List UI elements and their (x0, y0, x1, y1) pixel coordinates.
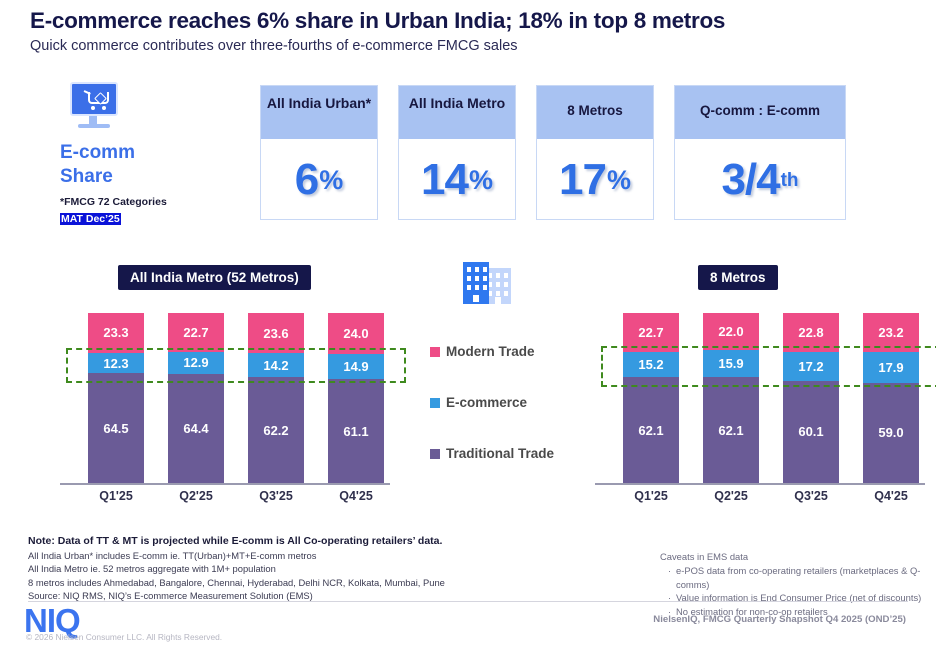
bar-value-label: 22.7 (183, 325, 208, 340)
x-axis-label: Q1'25 (88, 489, 144, 503)
x-axis-label: Q2'25 (168, 489, 224, 503)
monitor-shopping-cart-icon (66, 82, 122, 132)
legend: Modern TradeE-commerceTraditional Trade (430, 262, 595, 497)
note-headline: Note: Data of TT & MT is projected while… (28, 535, 548, 547)
window (496, 273, 500, 278)
x-axis-label: Q1'25 (623, 489, 679, 503)
slide-header: E-commerce reaches 6% share in Urban Ind… (30, 8, 910, 55)
caveat-item: · Value information is End Consumer Pric… (660, 591, 930, 605)
legend-swatch-icon (430, 398, 440, 408)
bar-value-label: 62.2 (263, 423, 288, 438)
chart-title: 8 Metros (698, 265, 778, 290)
window (475, 267, 479, 272)
window (504, 273, 508, 278)
bar-group: 23.312.364.5 (88, 313, 144, 483)
bar-value-label: 22.7 (638, 325, 663, 340)
bar-group: 22.015.962.1 (703, 313, 759, 483)
ecomm-label-line1: E-comm (60, 141, 195, 165)
window (467, 267, 471, 272)
footer-snapshot-label: NielsenIQ, FMCG Quarterly Snapshot Q4 20… (653, 614, 906, 625)
legend-label: Traditional Trade (446, 446, 554, 461)
bar-value-label: 62.1 (718, 423, 743, 438)
page-title: E-commerce reaches 6% share in Urban Ind… (30, 8, 910, 35)
caveat-text: Value information is End Consumer Price … (676, 591, 921, 605)
page-subtitle: Quick commerce contributes over three-fo… (30, 38, 910, 55)
window (467, 276, 471, 281)
bullet-icon: · (660, 564, 676, 591)
window (504, 282, 508, 287)
legend-item-traditional-trade[interactable]: Traditional Trade (430, 446, 595, 461)
window (475, 285, 479, 290)
bar-group: 23.614.262.2 (248, 313, 304, 483)
bar-group: 22.817.260.1 (783, 313, 839, 483)
kpi-card-header: All India Urban* (261, 86, 377, 139)
x-axis-label: Q4'25 (863, 489, 919, 503)
window (483, 276, 487, 281)
kpi-card-all-india-urban[interactable]: All India Urban* 6% (260, 85, 378, 220)
kpi-strip: E-comm Share *FMCG 72 Categories MAT Dec… (60, 80, 875, 230)
kpi-number: 3/4 (721, 158, 779, 202)
bar-segment-traditional-trade: 60.1 (783, 381, 839, 483)
kpi-card-header: Q-comm : E-comm (675, 86, 845, 139)
bar-value-label: 24.0 (343, 326, 368, 341)
ecomm-share-block: E-comm Share *FMCG 72 Categories MAT Dec… (60, 80, 195, 227)
bar-group: 23.217.959.0 (863, 313, 919, 483)
plot-area: 22.715.262.122.015.962.122.817.260.123.2… (595, 313, 925, 483)
legend-items: Modern TradeE-commerceTraditional Trade (430, 344, 595, 461)
x-axis-line (595, 483, 925, 485)
kpi-card-qcomm-ecomm[interactable]: Q-comm : E-comm 3/4th (674, 85, 846, 220)
caveat-text: e-POS data from co-operating retailers (… (676, 564, 930, 591)
fmcg-footnote: *FMCG 72 Categories (60, 196, 195, 209)
legend-swatch-icon (430, 347, 440, 357)
legend-item-e-commerce[interactable]: E-commerce (430, 395, 595, 410)
bar-segment-traditional-trade: 64.4 (168, 374, 224, 483)
chart-8-metros: 8 Metros 22.715.262.122.015.962.122.817.… (595, 265, 925, 515)
kpi-percent-sign: % (607, 167, 631, 194)
ecommerce-highlight-box (601, 346, 936, 386)
bar-value-label: 64.4 (183, 421, 208, 436)
window (504, 291, 508, 296)
bar-value-label: 23.6 (263, 326, 288, 341)
ecommerce-highlight-box (66, 348, 406, 384)
x-axis-label: Q4'25 (328, 489, 384, 503)
bar-segment-traditional-trade: 62.2 (248, 377, 304, 483)
kpi-card-value: 14% (399, 139, 515, 221)
shopping-cart-icon (84, 92, 114, 112)
bar-segment-traditional-trade: 62.1 (623, 377, 679, 483)
kpi-card-header: All India Metro (399, 86, 515, 139)
kpi-card-8-metros[interactable]: 8 Metros 17% (536, 85, 654, 220)
bar-value-label: 59.0 (878, 425, 903, 440)
ecomm-share-label: E-comm Share (60, 141, 195, 190)
copyright-text: © 2026 Nielsen Consumer LLC. All Rights … (26, 632, 222, 642)
kpi-percent-sign: % (469, 167, 493, 194)
window (475, 276, 479, 281)
caveats-header: Caveats in EMS data (660, 551, 930, 562)
caveats-block: Caveats in EMS data · e-POS data from co… (660, 551, 930, 619)
notes-block: Note: Data of TT & MT is projected while… (28, 535, 548, 602)
mat-period-highlight: MAT Dec’25 (60, 213, 121, 225)
bar-value-label: 23.2 (878, 325, 903, 340)
door (473, 295, 479, 302)
legend-label: E-commerce (446, 395, 527, 410)
window (496, 282, 500, 287)
x-axis-label: Q3'25 (248, 489, 304, 503)
kpi-card-header: 8 Metros (537, 86, 653, 139)
bar-segment-modern-trade: 22.0 (703, 313, 759, 350)
window (483, 285, 487, 290)
window (496, 291, 500, 296)
note-line: All India Urban* includes E-comm ie. TT(… (28, 549, 548, 562)
bar-segment-traditional-trade: 61.1 (328, 379, 384, 483)
door (495, 297, 501, 304)
note-line: 8 metros includes Ahmedabad, Bangalore, … (28, 576, 548, 589)
kpi-suffix: th (781, 171, 799, 190)
bar-segment-traditional-trade: 59.0 (863, 383, 919, 483)
bar-segment-modern-trade: 22.7 (168, 313, 224, 352)
x-axis-line (60, 483, 390, 485)
kpi-number: 6 (295, 158, 318, 202)
legend-swatch-icon (430, 449, 440, 459)
chart-title: All India Metro (52 Metros) (118, 265, 311, 290)
note-line: All India Metro ie. 52 metros aggregate … (28, 562, 548, 575)
bar-value-label: 62.1 (638, 423, 663, 438)
chart-all-india-metro: All India Metro (52 Metros) 23.312.364.5… (60, 265, 390, 515)
kpi-card-value: 6% (261, 139, 377, 221)
window (483, 267, 487, 272)
bar-segment-traditional-trade: 62.1 (703, 377, 759, 483)
bar-value-label: 60.1 (798, 424, 823, 439)
legend-item-modern-trade[interactable]: Modern Trade (430, 344, 595, 359)
kpi-number: 14 (421, 158, 468, 202)
caveat-item: · e-POS data from co-operating retailers… (660, 564, 930, 591)
bar-segment-traditional-trade: 64.5 (88, 373, 144, 483)
bar-value-label: 64.5 (103, 421, 128, 436)
kpi-percent-sign: % (319, 167, 343, 194)
legend-label: Modern Trade (446, 344, 535, 359)
x-axis-label: Q2'25 (703, 489, 759, 503)
bar-value-label: 22.8 (798, 325, 823, 340)
bar-value-label: 22.0 (718, 324, 743, 339)
kpi-card-value: 3/4th (675, 139, 845, 221)
bullet-icon: · (660, 591, 676, 605)
footer-divider (28, 601, 908, 602)
window (467, 285, 471, 290)
buildings-icon (463, 262, 511, 304)
x-axis-label: Q3'25 (783, 489, 839, 503)
kpi-number: 17 (559, 158, 606, 202)
kpi-card-value: 17% (537, 139, 653, 221)
kpi-card-all-india-metro[interactable]: All India Metro 14% (398, 85, 516, 220)
bar-group: 22.715.262.1 (623, 313, 679, 483)
bar-value-label: 61.1 (343, 424, 368, 439)
bar-group: 24.014.961.1 (328, 313, 384, 483)
ecomm-label-line2: Share (60, 165, 195, 189)
bar-value-label: 23.3 (103, 325, 128, 340)
bar-group: 22.712.964.4 (168, 313, 224, 483)
plot-area: 23.312.364.522.712.964.423.614.262.224.0… (60, 313, 390, 483)
